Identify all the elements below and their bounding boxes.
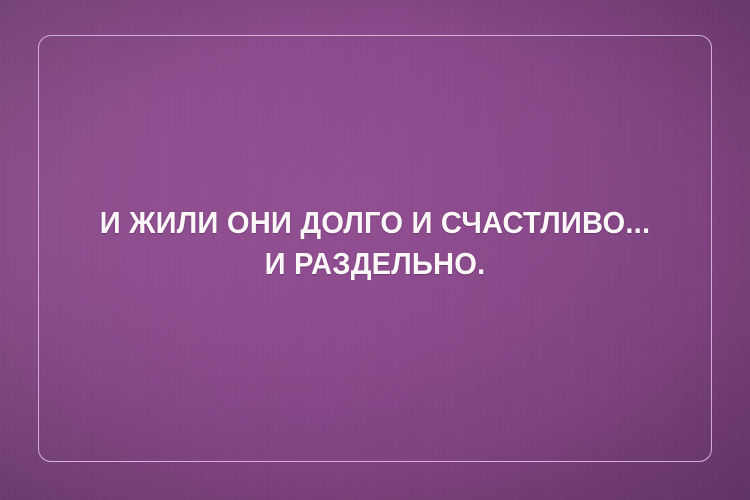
- quote-card: И ЖИЛИ ОНИ ДОЛГО И СЧАСТЛИВО... И РАЗДЕЛ…: [0, 0, 750, 500]
- quote-text: И ЖИЛИ ОНИ ДОЛГО И СЧАСТЛИВО... И РАЗДЕЛ…: [17, 203, 733, 285]
- quote-line-2: И РАЗДЕЛЬНО.: [17, 244, 733, 285]
- quote-line-1: И ЖИЛИ ОНИ ДОЛГО И СЧАСТЛИВО...: [17, 203, 733, 244]
